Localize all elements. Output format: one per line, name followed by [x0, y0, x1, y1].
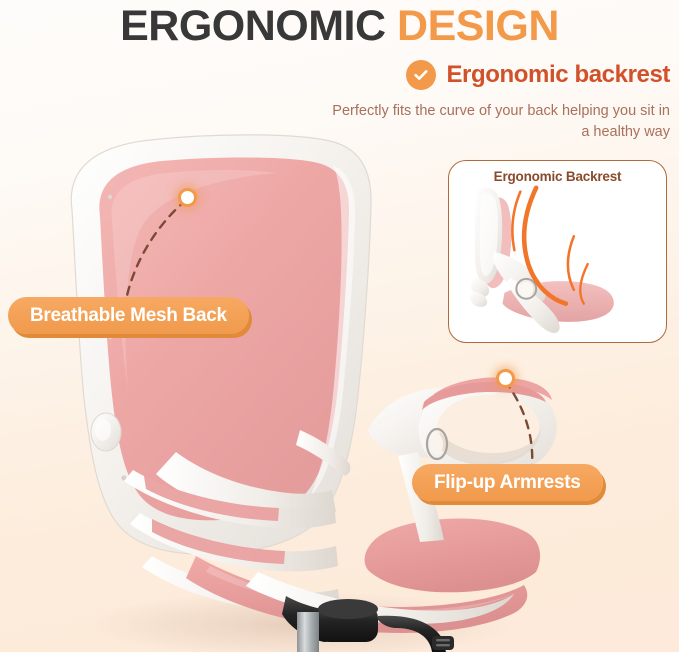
check-circle-icon: [406, 60, 436, 90]
inset-panel-ergonomic-backrest: Ergonomic Backrest: [448, 160, 667, 343]
hotspot-dot-armrests[interactable]: [496, 369, 515, 388]
page-title-part-1: ERGONOMIC: [120, 2, 397, 50]
feature-heading-row: Ergonomic backrest: [325, 60, 670, 90]
feature-description: Perfectly fits the curve of your back he…: [330, 101, 670, 142]
infographic-canvas: ERGONOMIC DESIGN Ergonomic backrest Perf…: [0, 0, 679, 652]
page-title-part-2: DESIGN: [397, 2, 559, 50]
feature-title: Ergonomic backrest: [446, 61, 670, 89]
callout-label-flip-up-armrests[interactable]: Flip-up Armrests: [412, 464, 603, 501]
hotspot-dot-mesh-back[interactable]: [178, 188, 197, 207]
callout-label-mesh-back[interactable]: Breathable Mesh Back: [8, 297, 249, 334]
inset-chair-side-profile-art: [449, 161, 666, 342]
page-title: ERGONOMIC DESIGN: [0, 2, 679, 51]
